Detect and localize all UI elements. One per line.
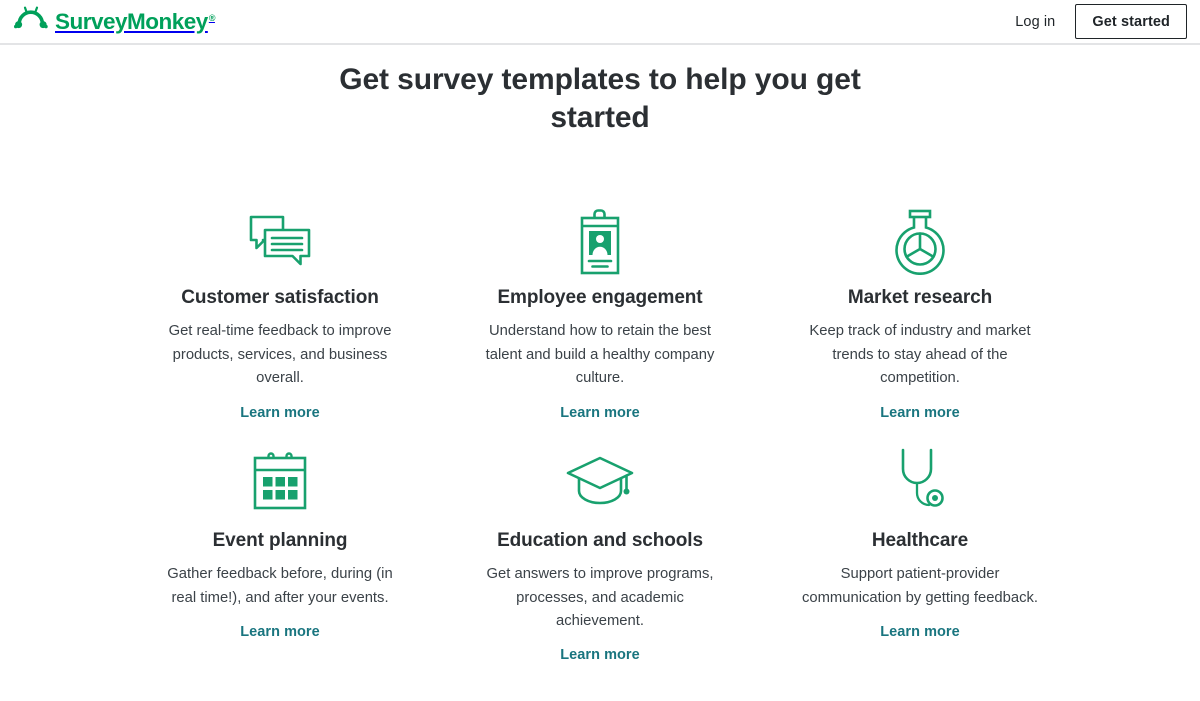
brand-logo-link[interactable]: SurveyMonkey ®	[14, 0, 214, 43]
template-card-healthcare[interactable]: Healthcare Support patient-provider comm…	[760, 443, 1080, 664]
main-content: Get survey templates to help you get sta…	[0, 45, 1200, 663]
template-card-customer-satisfaction[interactable]: Customer satisfaction Get real-time feed…	[120, 204, 440, 421]
learn-more-link[interactable]: Learn more	[880, 405, 959, 421]
brand-name-text: SurveyMonkey	[55, 11, 208, 34]
stethoscope-icon	[890, 443, 950, 519]
learn-more-link[interactable]: Learn more	[240, 405, 319, 421]
learn-more-link[interactable]: Learn more	[560, 405, 639, 421]
card-title: Education and schools	[497, 529, 703, 554]
id-badge-icon	[575, 204, 625, 280]
speech-bubbles-icon	[248, 204, 312, 280]
page-title: Get survey templates to help you get sta…	[290, 61, 910, 138]
card-description: Support patient-provider communication b…	[795, 563, 1045, 610]
template-card-event-planning[interactable]: Event planning Gather feedback before, d…	[120, 443, 440, 664]
template-category-grid: Customer satisfaction Get real-time feed…	[90, 204, 1110, 664]
card-description: Gather feedback before, during (in real …	[155, 563, 405, 610]
registered-trademark-icon: ®	[209, 14, 215, 23]
card-title: Healthcare	[872, 529, 968, 554]
brand-wordmark: SurveyMonkey ®	[55, 11, 214, 34]
card-title: Event planning	[213, 529, 348, 554]
flask-pie-chart-icon	[890, 204, 950, 280]
card-title: Employee engagement	[497, 286, 702, 311]
card-description: Understand how to retain the best talent…	[475, 320, 725, 390]
learn-more-link[interactable]: Learn more	[880, 624, 959, 640]
template-card-market-research[interactable]: Market research Keep track of industry a…	[760, 204, 1080, 421]
header-actions: Log in Get started	[1013, 4, 1187, 39]
calendar-icon	[250, 443, 310, 519]
template-card-employee-engagement[interactable]: Employee engagement Understand how to re…	[440, 204, 760, 421]
login-link[interactable]: Log in	[1013, 10, 1057, 34]
card-title: Market research	[848, 286, 992, 311]
template-card-education-and-schools[interactable]: Education and schools Get answers to imp…	[440, 443, 760, 664]
card-description: Keep track of industry and market trends…	[795, 320, 1045, 390]
card-description: Get real-time feedback to improve produc…	[155, 320, 405, 390]
learn-more-link[interactable]: Learn more	[560, 647, 639, 663]
learn-more-link[interactable]: Learn more	[240, 624, 319, 640]
card-description: Get answers to improve programs, process…	[475, 563, 725, 633]
card-title: Customer satisfaction	[181, 286, 378, 311]
surveymonkey-monkey-logo-icon	[14, 6, 48, 37]
site-header: SurveyMonkey ® Log in Get started	[0, 0, 1200, 45]
get-started-button[interactable]: Get started	[1075, 4, 1187, 39]
graduation-cap-icon	[565, 443, 635, 519]
